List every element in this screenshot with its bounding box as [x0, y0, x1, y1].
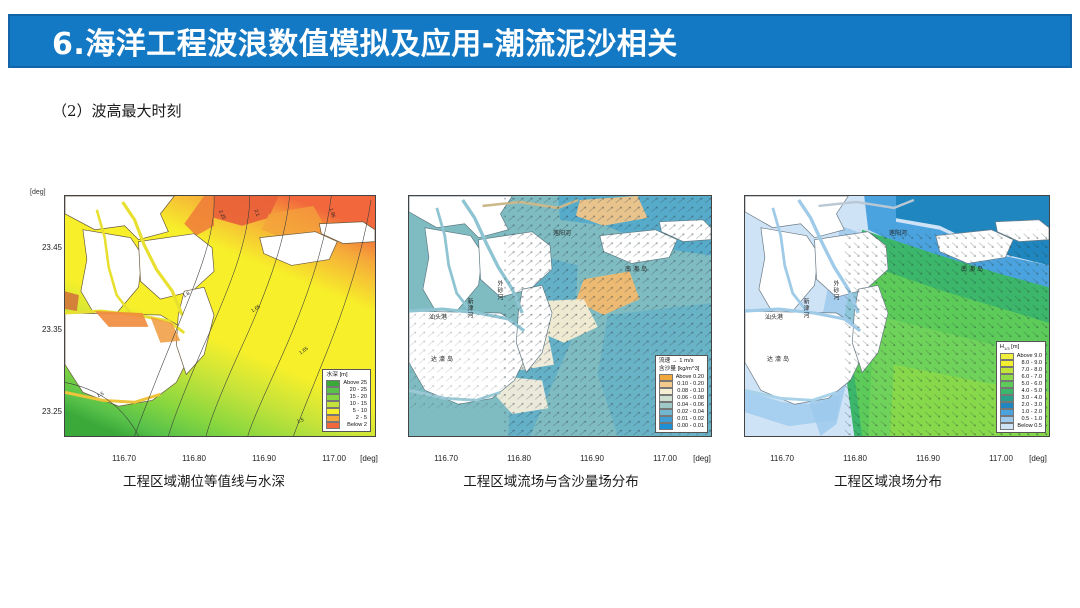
x-tick-3: 117.00	[653, 454, 677, 463]
legend-label: Below 0.5	[1017, 423, 1042, 430]
legend-swatch	[326, 380, 340, 386]
legend-row: 2.0 - 3.0	[1000, 402, 1042, 409]
legend-swatch	[1000, 381, 1014, 387]
legend-label: 0.04 - 0.06	[676, 402, 704, 409]
legend-sediment: 流速 → 1 m/s 含沙量 [kg/m^3] Above 0.20 0.10 …	[655, 355, 708, 433]
legend-row: 0.10 - 0.20	[659, 381, 704, 388]
map-label-nanao-dao: 南澳岛	[961, 264, 985, 273]
legend-swatch	[326, 387, 340, 393]
legend-label: 6.0 - 7.0	[1017, 374, 1042, 381]
legend-row: 5 - 10	[326, 408, 367, 415]
map-label-shantou-gang: 汕头港	[429, 312, 447, 321]
legend-swatch	[326, 401, 340, 407]
legend-label: Above 25	[343, 380, 367, 387]
x-tick-1: 116.80	[843, 454, 867, 463]
legend-swatch	[1000, 409, 1014, 415]
subheading: （2）波高最大时刻	[52, 100, 182, 121]
legend-row: 3.0 - 4.0	[1000, 395, 1042, 402]
legend-row: Below 0.5	[1000, 423, 1042, 430]
legend-label: 7.0 - 8.0	[1017, 367, 1042, 374]
legend-row: Below 2	[326, 422, 367, 429]
legend-title: 含沙量 [kg/m^3]	[659, 366, 704, 373]
x-tick-2: 116.90	[580, 454, 604, 463]
y-tick-0: 23.45	[28, 243, 62, 252]
legend-swatch	[1000, 388, 1014, 394]
legend-swatch	[659, 374, 673, 380]
legend-swatch	[659, 388, 673, 394]
legend-label: Above 0.20	[676, 374, 704, 381]
legend-swatch	[659, 402, 673, 408]
figure-panel-tide-depth: [deg] 23.45 23.35 23.25 116.70 116.80 11…	[28, 185, 380, 465]
legend-row: 0.00 - 0.01	[659, 423, 704, 430]
legend-swatch	[659, 416, 673, 422]
map-label-waisha-he: 外砂河	[831, 280, 840, 301]
x-tick-0: 116.70	[112, 454, 136, 463]
legend-row: 8.0 - 9.0	[1000, 360, 1042, 367]
legend-title-unit: [m]	[1010, 344, 1020, 350]
legend-swatch	[1000, 402, 1014, 408]
legend-row: 2 - 5	[326, 415, 367, 422]
legend-label: 1.0 - 2.0	[1017, 409, 1042, 416]
legend-swatch	[659, 409, 673, 415]
x-tick-0: 116.70	[434, 454, 458, 463]
y-tick-1: 23.35	[28, 325, 62, 334]
map-label-dahao-dao: 达濠岛	[431, 354, 455, 363]
x-tick-1: 116.80	[182, 454, 206, 463]
legend-row: 0.01 - 0.02	[659, 416, 704, 423]
legend-label: 4.0 - 5.0	[1017, 388, 1042, 395]
legend-label: 2.0 - 3.0	[1017, 402, 1042, 409]
map-label-lianyang-he: 莲阳河	[553, 228, 571, 237]
map-label-dahao-dao: 达濠岛	[767, 354, 791, 363]
legend-row: Above 0.20	[659, 374, 704, 381]
legend-row: 20 - 25	[326, 387, 367, 394]
legend-label: 0.01 - 0.02	[676, 416, 704, 423]
legend-label: 0.06 - 0.08	[676, 395, 704, 402]
map-canvas-wave-field[interactable]: 莲阳河 外砂河 新津河 汕头港 达濠岛 南澳岛 H1/3 [m] Above 9…	[744, 195, 1050, 437]
x-axis-unit-label: [deg]	[1029, 454, 1047, 463]
caption-panel-3: 工程区域浪场分布	[722, 470, 1054, 490]
map-label-nanao-dao: 南澳岛	[625, 264, 649, 273]
legend-label: Below 2	[343, 422, 367, 429]
legend-swatch	[1000, 374, 1014, 380]
caption-panel-2: 工程区域流场与含沙量场分布	[386, 470, 716, 490]
legend-row: 0.06 - 0.08	[659, 395, 704, 402]
legend-label: 15 - 20	[343, 394, 367, 401]
map-label-lianyang-he: 莲阳河	[889, 228, 907, 237]
legend-row: 7.0 - 8.0	[1000, 367, 1042, 374]
legend-row: 15 - 20	[326, 394, 367, 401]
legend-label: 0.10 - 0.20	[676, 381, 704, 388]
x-axis-unit-label: [deg]	[360, 454, 378, 463]
legend-row: 10 - 15	[326, 401, 367, 408]
legend-swatch	[659, 381, 673, 387]
slide-header-bar: 6.海洋工程波浪数值模拟及应用-潮流泥沙相关	[8, 14, 1072, 68]
legend-label: 0.00 - 0.01	[676, 423, 704, 430]
legend-wave-height: H1/3 [m] Above 9.0 8.0 - 9.0 7.0 - 8.0 6…	[996, 341, 1046, 433]
map-label-xinjin-he: 新津河	[801, 298, 810, 319]
legend-label: 0.08 - 0.10	[676, 388, 704, 395]
legend-swatch	[659, 423, 673, 429]
legend-label: 2 - 5	[343, 415, 367, 422]
x-tick-3: 117.00	[322, 454, 346, 463]
legend-label: 5.0 - 6.0	[1017, 381, 1042, 388]
legend-swatch	[1000, 360, 1014, 366]
x-tick-2: 116.90	[916, 454, 940, 463]
legend-label: Above 9.0	[1017, 353, 1042, 360]
y-axis-unit-label: [deg]	[30, 189, 46, 196]
x-axis-unit-label: [deg]	[693, 454, 711, 463]
legend-swatch	[1000, 353, 1014, 359]
legend-row: Above 25	[326, 380, 367, 387]
legend-label: 0.5 - 1.0	[1017, 416, 1042, 423]
legend-label: 20 - 25	[343, 387, 367, 394]
legend-row: 0.08 - 0.10	[659, 388, 704, 395]
legend-row: 0.04 - 0.06	[659, 402, 704, 409]
legend-title: 水深 [m]	[326, 372, 367, 379]
legend-row: 0.02 - 0.04	[659, 409, 704, 416]
legend-row: 5.0 - 6.0	[1000, 381, 1042, 388]
legend-label: 0.02 - 0.04	[676, 409, 704, 416]
legend-swatch	[1000, 423, 1014, 429]
y-tick-2: 23.25	[28, 407, 62, 416]
legend-velocity-title: 流速 → 1 m/s	[659, 358, 704, 365]
legend-swatch	[326, 415, 340, 421]
legend-swatch	[1000, 416, 1014, 422]
map-canvas-tide-depth[interactable]: 2.25 2.1 1.95 1.8 1.65 1.65 1.5 1.5 水深 […	[64, 195, 376, 437]
x-tick-2: 116.90	[252, 454, 276, 463]
legend-swatch	[326, 422, 340, 428]
x-tick-0: 116.70	[770, 454, 794, 463]
map-canvas-current-sediment[interactable]: 莲阳河 外砂河 新津河 汕头港 达濠岛 南澳岛 流速 → 1 m/s 含沙量 […	[408, 195, 712, 437]
legend-row: Above 9.0	[1000, 353, 1042, 360]
page-title: 6.海洋工程波浪数值模拟及应用-潮流泥沙相关	[52, 19, 678, 63]
figure-panel-wave-field: 116.70 116.80 116.90 117.00 [deg]	[722, 185, 1054, 465]
legend-swatch	[1000, 367, 1014, 373]
legend-swatch	[326, 394, 340, 400]
legend-swatch	[659, 395, 673, 401]
legend-label: 3.0 - 4.0	[1017, 395, 1042, 402]
legend-label: 8.0 - 9.0	[1017, 360, 1042, 367]
legend-label: 5 - 10	[343, 408, 367, 415]
figure-row: [deg] 23.45 23.35 23.25 116.70 116.80 11…	[0, 185, 1080, 495]
map-label-waisha-he: 外砂河	[495, 280, 504, 301]
legend-swatch	[1000, 395, 1014, 401]
legend-water-depth: 水深 [m] Above 25 20 - 25 15 - 20 10 - 15 …	[322, 369, 371, 432]
legend-label: 10 - 15	[343, 401, 367, 408]
legend-row: 1.0 - 2.0	[1000, 409, 1042, 416]
figure-panel-current-sediment: 116.70 116.80 116.90 117.00 [deg]	[386, 185, 716, 465]
legend-title: H1/3 [m]	[1000, 344, 1042, 352]
x-tick-1: 116.80	[507, 454, 531, 463]
caption-panel-1: 工程区域潮位等值线与水深	[28, 470, 380, 490]
legend-row: 0.5 - 1.0	[1000, 416, 1042, 423]
map-label-shantou-gang: 汕头港	[765, 312, 783, 321]
legend-row: 6.0 - 7.0	[1000, 374, 1042, 381]
map-label-xinjin-he: 新津河	[465, 298, 474, 319]
legend-swatch	[326, 408, 340, 414]
legend-row: 4.0 - 5.0	[1000, 388, 1042, 395]
x-tick-3: 117.00	[989, 454, 1013, 463]
